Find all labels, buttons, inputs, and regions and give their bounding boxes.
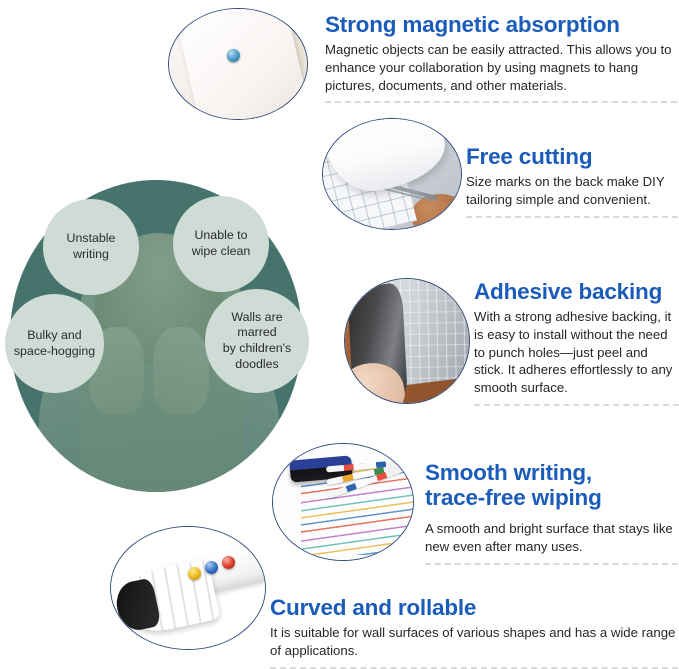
- pain-bubble-unable-to-wipe-clean: Unable to wipe clean: [173, 196, 269, 292]
- scissors-cutting-sheet-photo: [322, 118, 462, 230]
- feature-heading: Curved and rollable: [270, 595, 678, 620]
- rolled-sheet-with-magnets-photo: [110, 526, 266, 650]
- feature-heading: Strong magnetic absorption: [325, 12, 677, 37]
- divider: [466, 216, 678, 218]
- feature-body: Size marks on the back make DIY tailorin…: [466, 173, 678, 208]
- feature-body: Magnetic objects can be easily attracted…: [325, 41, 677, 94]
- divider: [270, 667, 678, 669]
- feature-heading: Adhesive backing: [474, 279, 679, 304]
- peeling-adhesive-backing-photo: [344, 278, 470, 404]
- feature-body: With a strong adhesive backing, it is ea…: [474, 308, 679, 396]
- pain-bubble-unstable-writing: Unstable writing: [43, 199, 139, 295]
- feature-adhesive-backing: Adhesive backing With a strong adhesive …: [474, 279, 679, 406]
- feature-heading: Free cutting: [466, 144, 678, 169]
- feature-curved-and-rollable: Curved and rollable It is suitable for w…: [270, 595, 678, 669]
- blue-magnet-icon: [205, 561, 218, 574]
- feature-free-cutting: Free cutting Size marks on the back make…: [466, 144, 678, 218]
- divider: [474, 404, 679, 406]
- feature-body: A smooth and bright surface that stays l…: [425, 520, 678, 555]
- magnet-on-white-sheet-photo: [168, 8, 308, 120]
- divider: [325, 101, 677, 103]
- feature-strong-magnetic-absorption: Strong magnetic absorption Magnetic obje…: [325, 12, 677, 103]
- infographic-canvas: Strong magnetic absorption Magnetic obje…: [0, 0, 679, 669]
- divider: [425, 563, 678, 565]
- blue-magnet-icon: [227, 49, 240, 62]
- feature-smooth-writing: Smooth writing, trace-free wiping A smoo…: [425, 460, 678, 565]
- feature-body: It is suitable for wall surfaces of vari…: [270, 624, 678, 659]
- markers-icon: [326, 463, 407, 498]
- pain-bubble-walls-are-marred: Walls are marred by children's doodles: [205, 289, 309, 393]
- pain-bubble-bulky-and-space-hogging: Bulky and space-hogging: [5, 294, 104, 393]
- feature-heading: Smooth writing, trace-free wiping: [425, 460, 678, 510]
